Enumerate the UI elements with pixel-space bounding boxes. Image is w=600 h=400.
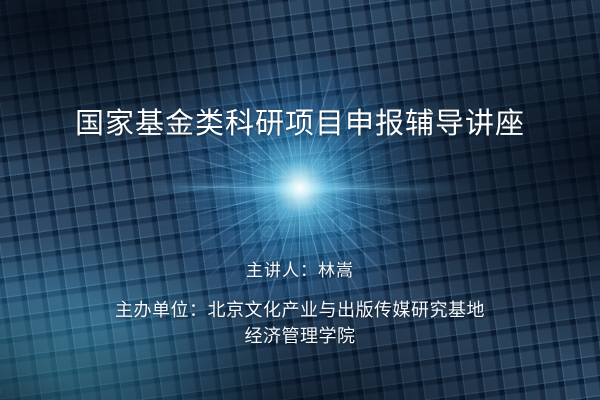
organizer-line-1: 主办单位：北京文化产业与出版传媒研究基地 <box>0 297 600 323</box>
text-container: 国家基金类科研项目申报辅导讲座 主讲人：林嵩 主办单位：北京文化产业与出版传媒研… <box>0 0 600 400</box>
title-slide: 国家基金类科研项目申报辅导讲座 主讲人：林嵩 主办单位：北京文化产业与出版传媒研… <box>0 0 600 400</box>
organizer-block: 主办单位：北京文化产业与出版传媒研究基地 经济管理学院 <box>0 297 600 349</box>
slide-title: 国家基金类科研项目申报辅导讲座 <box>0 108 600 141</box>
organizer-line-2: 经济管理学院 <box>0 323 600 349</box>
presenter-line: 主讲人：林嵩 <box>0 256 600 281</box>
